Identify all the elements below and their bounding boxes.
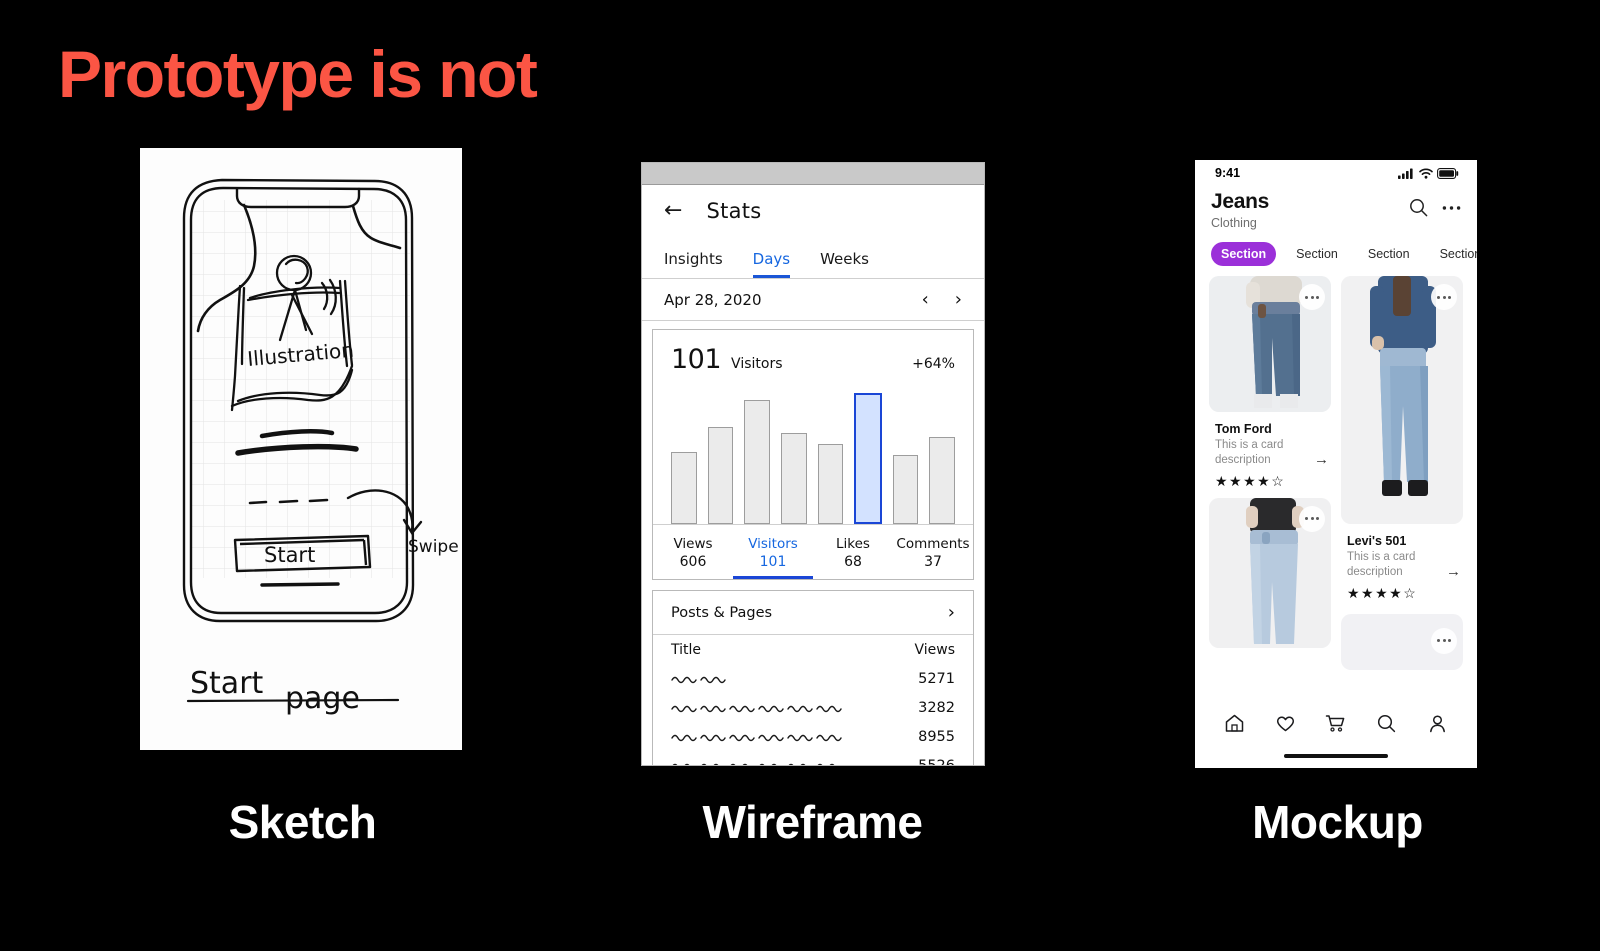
- product-column-right: Levi's 501 This is a card description ★★…: [1341, 276, 1463, 669]
- tab-days[interactable]: Days: [753, 252, 790, 278]
- metric-likes[interactable]: Likes 68: [813, 525, 893, 579]
- product-category-title: Jeans: [1211, 190, 1409, 213]
- window-titlebar: [642, 163, 984, 185]
- page-title: Prototype is not: [58, 40, 536, 109]
- caption-sketch: Sketch: [140, 795, 465, 849]
- svg-text:Start: Start: [190, 666, 264, 701]
- status-bar: 9:41: [1195, 160, 1477, 186]
- metric-label: Views: [673, 536, 712, 552]
- more-horizontal-icon[interactable]: [1299, 506, 1325, 532]
- product-description: This is a card description: [1215, 438, 1327, 467]
- svg-text:page: page: [285, 681, 360, 716]
- sketch-panel: Illustration Swipe: [140, 148, 462, 750]
- table-row[interactable]: 5526: [671, 751, 955, 766]
- posts-table: Title Views 5271 3282 8955 5526: [653, 635, 973, 766]
- more-horizontal-icon[interactable]: [1299, 284, 1325, 310]
- metric-label: Comments: [896, 536, 969, 552]
- signal-bars-icon: [1398, 168, 1415, 179]
- mockup-panel: 9:41: [1195, 160, 1477, 768]
- column-views: Views: [914, 642, 955, 658]
- screen-title: Stats: [706, 199, 761, 223]
- summary-label: Visitors: [731, 356, 782, 372]
- metric-value: 101: [760, 554, 787, 570]
- caption-mockup: Mockup: [1195, 795, 1480, 849]
- sketch-drawing: Illustration Swipe: [140, 148, 462, 750]
- product-category-subtitle: Clothing: [1211, 216, 1409, 230]
- current-date: Apr 28, 2020: [664, 291, 762, 309]
- jeans-photo-2: [1341, 276, 1463, 524]
- section-pills: SectionSectionSectionSectionSection: [1195, 230, 1477, 276]
- bar-6[interactable]: [854, 393, 882, 524]
- bar-5[interactable]: [818, 444, 844, 524]
- wireframe-screen: ← Stats Insights Days Weeks Apr 28, 2020…: [642, 185, 984, 766]
- tab-insights[interactable]: Insights: [664, 252, 723, 278]
- chevron-right-icon[interactable]: ›: [955, 289, 962, 310]
- title-placeholder: [671, 760, 845, 767]
- product-column-left: Tom Ford This is a card description ★★★★…: [1209, 276, 1331, 669]
- posts-title: Posts & Pages: [671, 605, 772, 621]
- rating-stars: ★★★★☆: [1215, 473, 1327, 490]
- rating-stars: ★★★★☆: [1347, 585, 1459, 602]
- home-indicator: [1284, 754, 1388, 758]
- metric-visitors[interactable]: Visitors 101: [733, 525, 813, 579]
- heart-icon[interactable]: [1275, 713, 1296, 734]
- product-name: Tom Ford: [1215, 422, 1327, 436]
- caption-wireframe: Wireframe: [640, 795, 985, 849]
- battery-icon: [1437, 168, 1459, 179]
- posts-header[interactable]: Posts & Pages ›: [653, 591, 973, 635]
- tab-weeks[interactable]: Weeks: [820, 252, 869, 278]
- bar-1[interactable]: [671, 452, 697, 524]
- metric-label: Likes: [836, 536, 870, 552]
- product-card-1: Tom Ford This is a card description ★★★★…: [1209, 418, 1331, 489]
- bar-8[interactable]: [929, 437, 955, 524]
- wireframe-panel: ← Stats Insights Days Weeks Apr 28, 2020…: [641, 162, 985, 766]
- table-row[interactable]: 8955: [671, 722, 955, 751]
- views-value: 3282: [918, 700, 955, 716]
- metrics-row: Views 606 Visitors 101 Likes 68 Comments…: [653, 525, 973, 579]
- section-pill-4[interactable]: Section: [1430, 242, 1477, 266]
- visitors-chart-card: 101 Visitors +64% Views 606 Visitors 101: [652, 329, 974, 580]
- arrow-right-icon[interactable]: →: [1314, 451, 1329, 468]
- cart-icon[interactable]: [1325, 713, 1346, 734]
- more-horizontal-icon[interactable]: [1431, 284, 1457, 310]
- table-header-row: Title Views: [671, 635, 955, 664]
- bar-3[interactable]: [744, 400, 770, 524]
- title-placeholder: [671, 731, 845, 743]
- wireframe-navbar: ← Stats: [642, 185, 984, 237]
- home-icon[interactable]: [1224, 713, 1245, 734]
- person-icon[interactable]: [1427, 713, 1448, 734]
- bar-7[interactable]: [893, 455, 919, 524]
- product-image-3[interactable]: [1209, 498, 1331, 648]
- section-pill-2[interactable]: Section: [1286, 242, 1348, 266]
- arrow-left-icon[interactable]: ←: [664, 200, 682, 222]
- bottom-fade: [1195, 674, 1477, 700]
- bar-4[interactable]: [781, 433, 807, 524]
- search-icon[interactable]: [1376, 713, 1397, 734]
- column-title: Title: [671, 642, 701, 658]
- chevron-right-icon[interactable]: ›: [948, 602, 955, 623]
- svg-text:Swipe: Swipe: [408, 537, 459, 557]
- bar-2[interactable]: [708, 427, 734, 524]
- delta-badge: +64%: [912, 356, 955, 372]
- metric-views[interactable]: Views 606: [653, 525, 733, 579]
- title-placeholder: [671, 702, 845, 714]
- metric-value: 606: [680, 554, 707, 570]
- arrow-right-icon[interactable]: →: [1446, 563, 1461, 580]
- product-card-2: Levi's 501 This is a card description ★★…: [1341, 530, 1463, 601]
- bottom-tabbar: [1195, 700, 1477, 746]
- title-placeholder: [671, 673, 729, 685]
- more-horizontal-icon[interactable]: [1431, 628, 1457, 654]
- status-time: 9:41: [1215, 166, 1240, 180]
- more-horizontal-icon[interactable]: [1442, 205, 1461, 211]
- views-value: 8955: [918, 729, 955, 745]
- metric-label: Visitors: [748, 536, 798, 552]
- search-icon[interactable]: [1409, 198, 1428, 217]
- table-row[interactable]: 3282: [671, 693, 955, 722]
- svg-text:Start: Start: [264, 543, 315, 567]
- views-value: 5271: [918, 671, 955, 687]
- section-pill-1[interactable]: Section: [1211, 242, 1276, 266]
- chart-summary: 101 Visitors +64%: [653, 330, 973, 375]
- wifi-icon: [1419, 168, 1433, 179]
- section-pill-3[interactable]: Section: [1358, 242, 1420, 266]
- metric-value: 68: [844, 554, 862, 570]
- posts-and-pages-card: Posts & Pages › Title Views 5271 3282 89…: [652, 590, 974, 766]
- product-name: Levi's 501: [1347, 534, 1459, 548]
- metric-comments[interactable]: Comments 37: [893, 525, 973, 579]
- product-image-1[interactable]: [1209, 276, 1331, 412]
- wireframe-tabs: Insights Days Weeks: [642, 237, 984, 279]
- mockup-header: Jeans Clothing: [1195, 186, 1477, 230]
- product-grid: Tom Ford This is a card description ★★★★…: [1195, 276, 1477, 669]
- date-selector-row: Apr 28, 2020 ‹ ›: [642, 279, 984, 321]
- product-description: This is a card description: [1347, 550, 1459, 579]
- slide-canvas: Prototype is not: [0, 0, 1600, 951]
- table-row[interactable]: 5271: [671, 664, 955, 693]
- bar-chart: [653, 375, 973, 525]
- product-card-placeholder[interactable]: [1341, 614, 1463, 670]
- metric-value: 37: [924, 554, 942, 570]
- views-value: 5526: [918, 758, 955, 767]
- chevron-left-icon[interactable]: ‹: [922, 289, 929, 310]
- product-image-2[interactable]: [1341, 276, 1463, 524]
- summary-value: 101: [671, 344, 721, 375]
